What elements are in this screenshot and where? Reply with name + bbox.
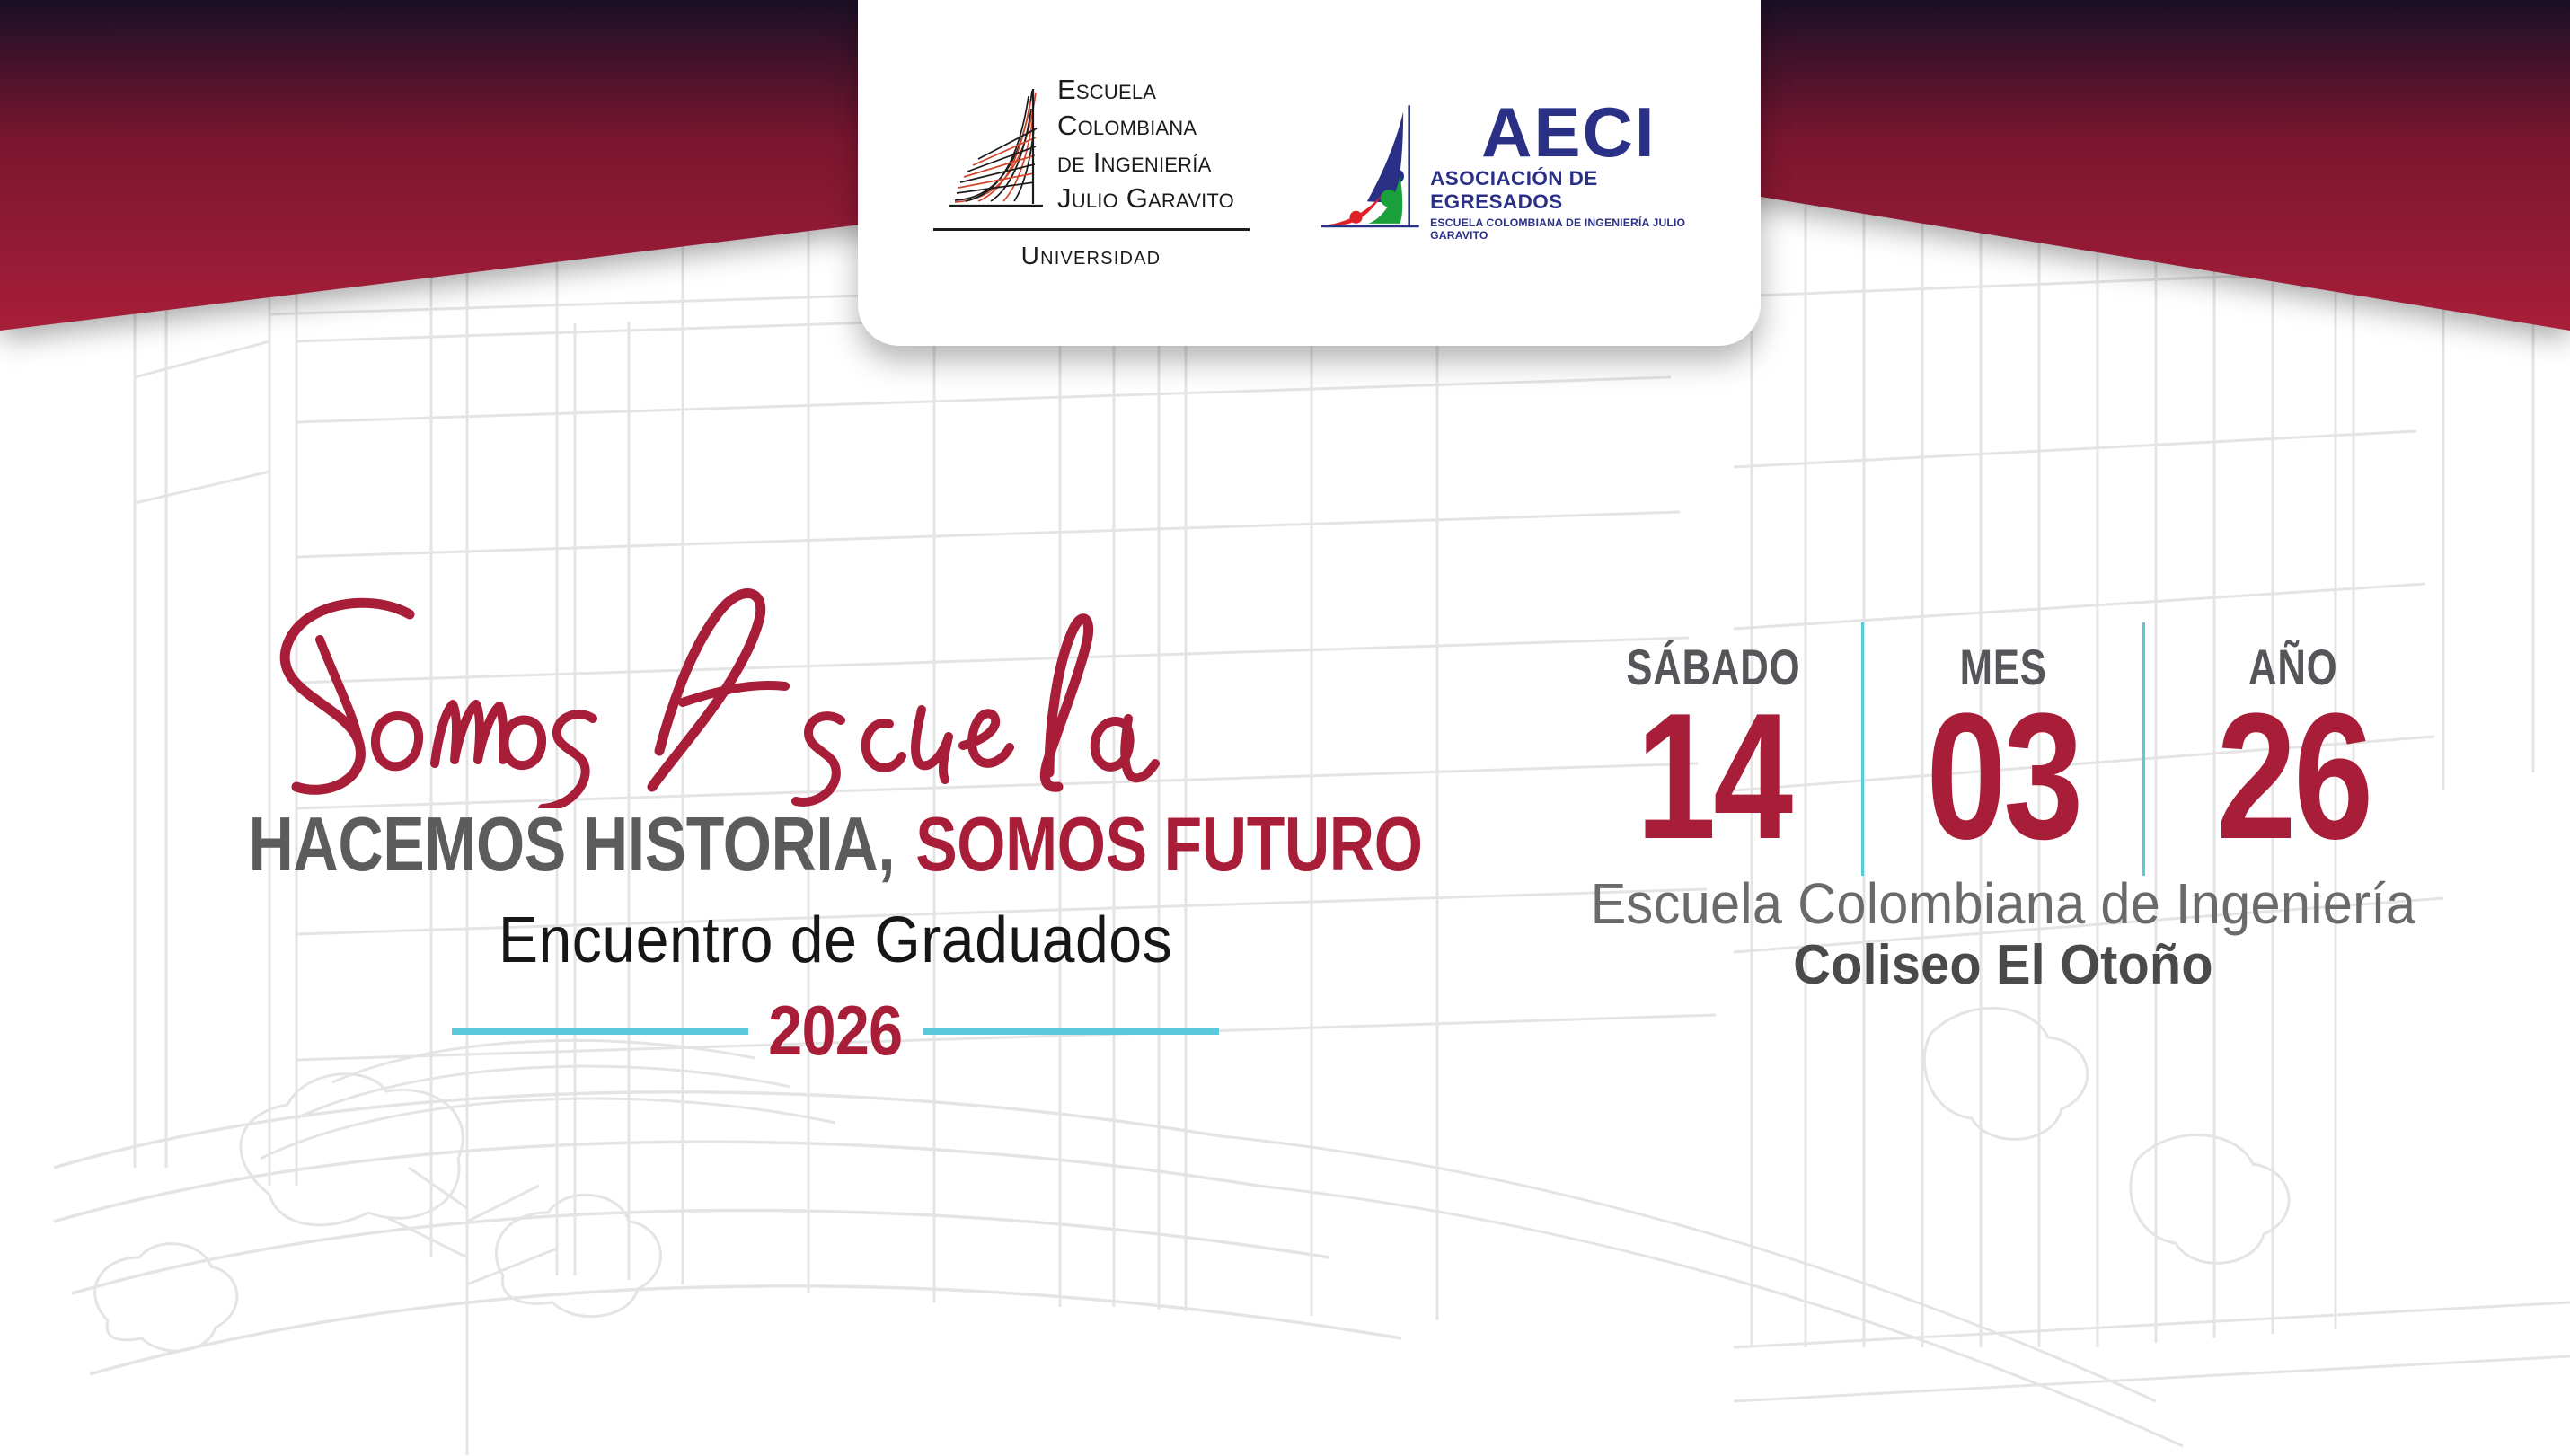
escuela-wordmark: Escuela Colombiana de Ingeniería Julio G… <box>1057 72 1234 216</box>
logo-card: Escuela Colombiana de Ingeniería Julio G… <box>858 0 1761 346</box>
main-title-block: Somos Escuela <box>171 584 1500 1072</box>
aeci-subtitle: ASOCIACIÓN DE EGRESADOS <box>1430 167 1707 214</box>
event-poster: Escuela Colombiana de Ingeniería Julio G… <box>0 0 2570 1456</box>
date-cell-month: MES 03 <box>1864 642 2142 856</box>
year-label: 2026 <box>759 990 912 1072</box>
headline: HACEMOS HISTORIA, SOMOS FUTURO <box>290 801 1381 889</box>
aeci-figures-emblem-icon <box>1321 91 1426 252</box>
date-row: SÁBADO 14 MES 03 AÑO 26 <box>1559 642 2448 856</box>
escuela-colombiana-logo: Escuela Colombiana de Ingeniería Julio G… <box>912 72 1271 270</box>
escuela-line-2: Colombiana <box>1057 108 1234 144</box>
escuela-divider <box>933 228 1250 231</box>
aeci-acronym: AECI <box>1481 101 1656 165</box>
headline-red-part: SOMOS FUTURO <box>915 801 1422 889</box>
subtitle: Encuentro de Graduados <box>224 904 1447 977</box>
headline-gray-part: HACEMOS HISTORIA, <box>248 801 895 889</box>
date-cell-day: SÁBADO 14 <box>1565 642 1861 856</box>
escuela-line-4: Julio Garavito <box>1057 181 1234 216</box>
escuela-universidad-label: Universidad <box>1021 242 1161 270</box>
venue-institution: Escuela Colombiana de Ingeniería <box>1590 870 2417 937</box>
escuela-line-1: Escuela <box>1057 72 1234 108</box>
venue-block: Escuela Colombiana de Ingeniería Coliseo… <box>1559 870 2448 997</box>
aeci-institution: ESCUELA COLOMBIANA DE INGENIERÍA JULIO G… <box>1430 216 1707 242</box>
somos-escuela-script-title: Somos Escuela <box>234 584 1240 808</box>
date-block: SÁBADO 14 MES 03 AÑO 26 Escuela Colombia… <box>1559 642 2448 997</box>
escuela-line-3: de Ingeniería <box>1057 145 1234 181</box>
escuela-curve-grid-icon <box>948 82 1045 216</box>
year-rule-right <box>923 1028 1219 1035</box>
top-left-red-banner <box>0 0 934 386</box>
date-month-value: 03 <box>1926 698 2080 856</box>
aeci-logo: AECI ASOCIACIÓN DE EGRESADOS ESCUELA COL… <box>1321 91 1708 252</box>
top-right-red-banner <box>1636 0 2570 386</box>
date-cell-year: AÑO 26 <box>2145 642 2442 856</box>
year-row: 2026 <box>171 990 1500 1072</box>
date-day-value: 14 <box>1636 698 1790 856</box>
venue-place: Coliseo El Otoño <box>1590 933 2417 997</box>
date-year-value: 26 <box>2216 698 2371 856</box>
year-rule-left <box>452 1028 748 1035</box>
